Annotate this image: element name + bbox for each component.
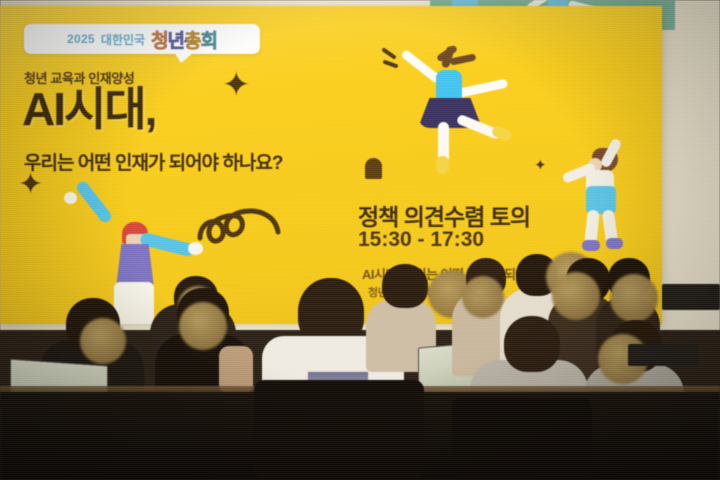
banner-kicker: 청년 교육과 인재양성	[24, 68, 134, 87]
session-title: 정책 의견수렴 토의	[358, 198, 530, 232]
motion-ticks-icon	[382, 46, 408, 70]
logo-nation: 대한민국	[101, 31, 145, 48]
banner-subline: 우리는 어떤 인재가 되어야 하나요?	[24, 148, 282, 175]
screenshot-root: 2025 대한민국 청년총회 청년 교육과 인재양성 AI시대, 우리는 어떤 …	[0, 0, 720, 480]
arch-shape-icon	[365, 158, 382, 179]
event-logo: 2025 대한민국 청년총회	[24, 24, 260, 54]
figure-dancer-top	[392, 44, 522, 174]
four-point-star-icon: ✦	[222, 68, 251, 102]
session-time: 15:30 - 17:30	[358, 228, 484, 252]
av-equipment	[628, 344, 698, 366]
logo-title: 청년총회	[151, 26, 217, 53]
four-point-star-icon: ✦	[534, 158, 547, 173]
logo-year: 2025	[67, 32, 95, 46]
four-point-star-icon: ✦	[18, 170, 43, 200]
banner-headline: AI시대,	[22, 86, 155, 132]
figure-dancer-right	[560, 146, 650, 266]
av-equipment	[662, 284, 720, 310]
